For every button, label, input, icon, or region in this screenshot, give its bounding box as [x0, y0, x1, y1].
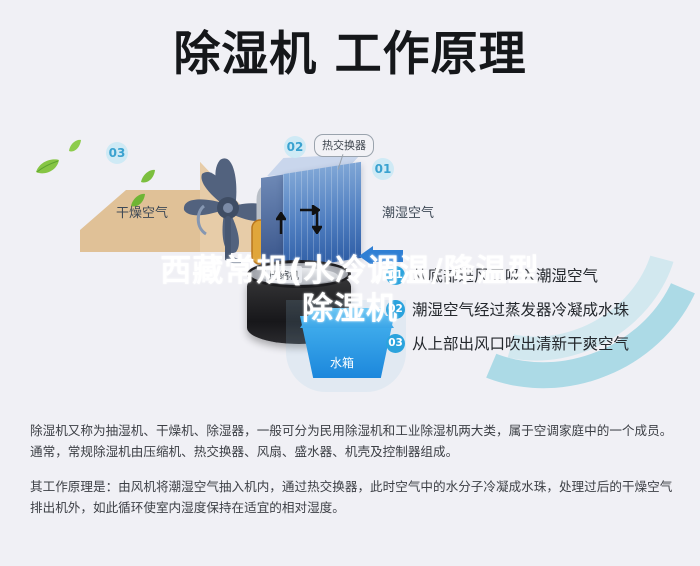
poster-root: 除湿机 工作原理 — [0, 0, 700, 566]
heat-exchanger-callout: 热交换器 — [314, 134, 374, 157]
flow-arrow-up-icon — [276, 212, 286, 238]
step-item-02: 02 潮湿空气经过蒸发器冷凝成水珠 — [386, 292, 686, 326]
diagram-badge-02: 02 — [284, 136, 306, 158]
page-title-container: 除湿机 工作原理 — [0, 26, 700, 84]
body-paragraph-1: 除湿机又称为抽湿机、干燥机、除湿器，一般可分为民用除湿机和工业除湿机两大类，属于… — [30, 420, 675, 462]
step-item-03: 03 从上部出风口吹出清新干爽空气 — [386, 326, 686, 360]
dry-air-label: 干燥空气 — [116, 202, 168, 221]
step-number-03: 03 — [386, 334, 405, 353]
step-number-01: 01 — [386, 266, 405, 285]
step-number-02: 02 — [386, 300, 405, 319]
leaf-icon-1 — [34, 158, 60, 180]
evaporator-icon — [283, 162, 361, 270]
water-tank-label: 水箱 — [330, 354, 354, 371]
page-title: 除湿机 工作原理 — [173, 26, 526, 84]
diagram-badge-03: 03 — [106, 142, 128, 164]
humid-air-label: 潮湿空气 — [382, 202, 434, 221]
body-copy: 除湿机又称为抽湿机、干燥机、除湿器，一般可分为民用除湿机和工业除湿机两大类，属于… — [30, 420, 675, 532]
water-tank-lid-icon — [300, 308, 394, 328]
step-list: 01 从底部进风口吸入潮湿空气 02 潮湿空气经过蒸发器冷凝成水珠 03 从上部… — [386, 258, 686, 360]
leaf-icon-2 — [68, 138, 82, 157]
body-paragraph-2: 其工作原理是：由风机将潮湿空气抽入机内，通过热交换器，此时空气中的水分子冷凝成水… — [30, 476, 675, 518]
step-text-02: 潮湿空气经过蒸发器冷凝成水珠 — [412, 298, 629, 320]
flow-arrow-down-icon — [312, 212, 322, 238]
compressor-label: 压缩机 — [266, 266, 302, 283]
step-item-01: 01 从底部进风口吸入潮湿空气 — [386, 258, 686, 292]
step-text-03: 从上部出风口吹出清新干爽空气 — [412, 332, 629, 354]
diagram-badge-01: 01 — [372, 158, 394, 180]
leaf-icon-3 — [140, 168, 156, 188]
step-text-01: 从底部进风口吸入潮湿空气 — [412, 264, 598, 286]
